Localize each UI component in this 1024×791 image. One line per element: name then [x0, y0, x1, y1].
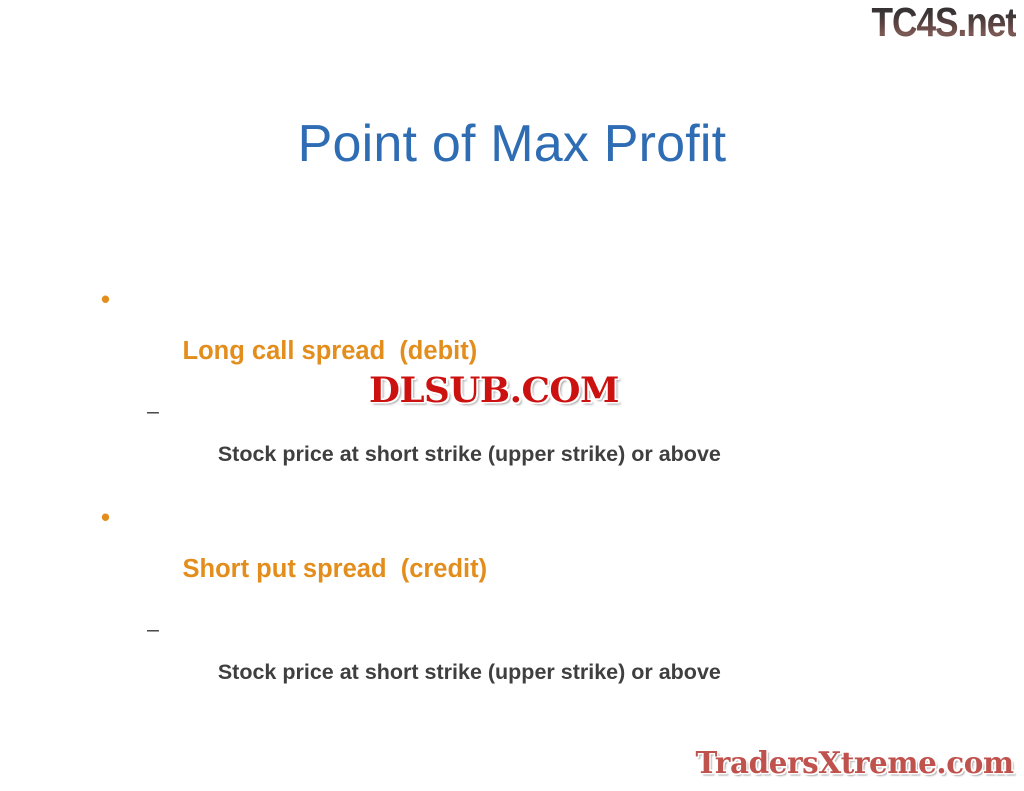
list-item-sub-label: Stock price at short strike (upper strik…: [218, 660, 721, 684]
list-item-subbullet-1: – Stock price at short strike (upper str…: [99, 401, 899, 487]
tc4s-net-logo: TC4S.net: [871, 2, 1016, 43]
dash-icon: –: [147, 619, 159, 641]
bullet-list: • Long call spread (debit) – Stock price…: [99, 288, 899, 724]
dlsub-watermark: DLSUB.COM: [369, 373, 619, 408]
tradersxtreme-com-logo: TradersXtreme.com: [696, 749, 1014, 779]
list-item-label: Long call spread (debit): [183, 337, 478, 365]
list-item-subbullet-2: – Stock price at short strike (upper str…: [99, 619, 899, 705]
list-item-bullet-2: • Short put spread (credit): [99, 506, 899, 608]
dash-icon: –: [147, 401, 159, 423]
bullet-dot-icon: •: [101, 506, 110, 532]
list-item-label: Short put spread (credit): [183, 555, 488, 583]
bullet-dot-icon: •: [101, 288, 110, 314]
presentation-slide: TC4S.net Point of Max Profit • Long call…: [0, 0, 1024, 791]
list-item-sub-label: Stock price at short strike (upper strik…: [218, 442, 721, 466]
page-title: Point of Max Profit: [0, 116, 1024, 173]
